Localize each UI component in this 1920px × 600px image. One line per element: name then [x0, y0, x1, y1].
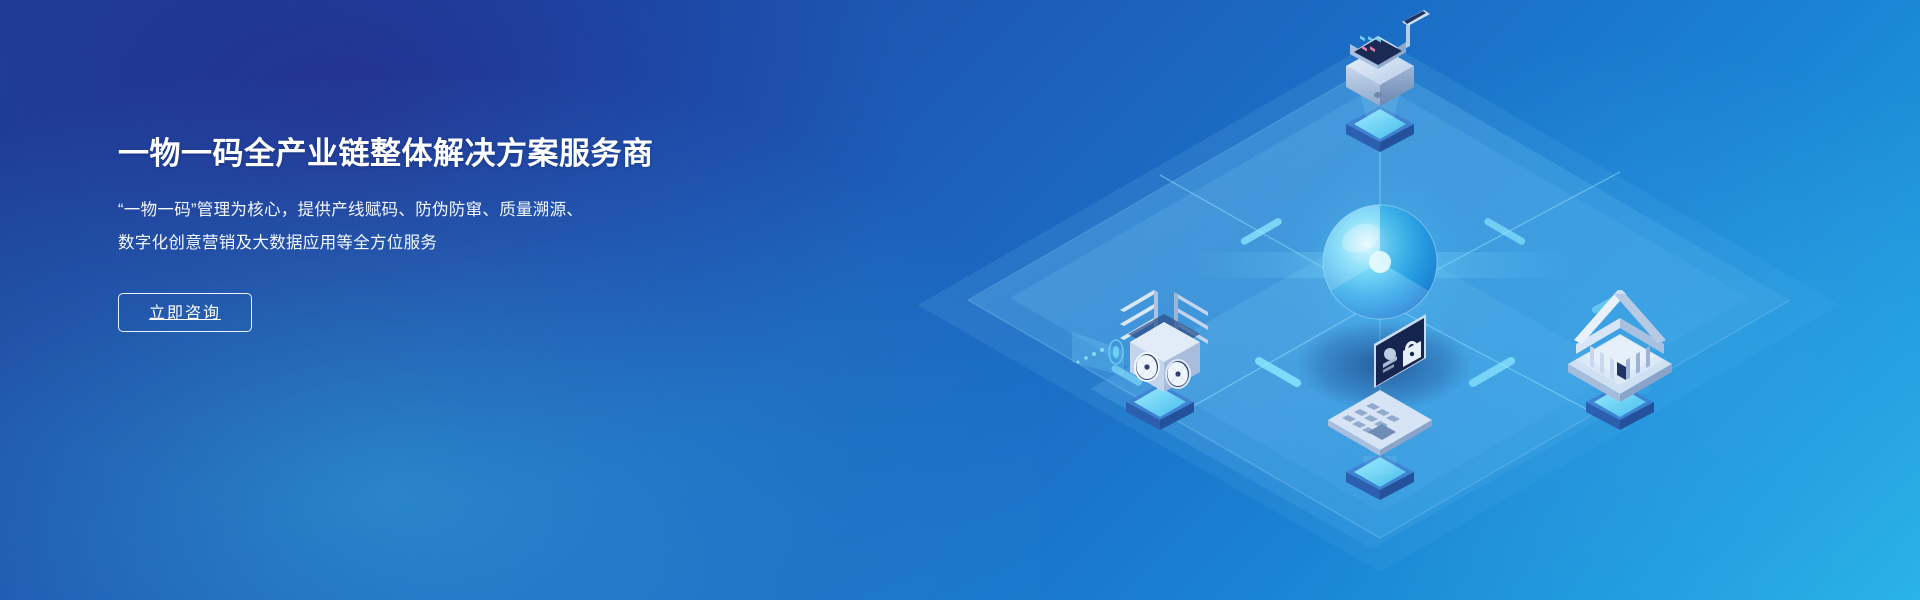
- consult-now-button[interactable]: 立即咨询: [118, 293, 252, 332]
- isometric-network-illustration: [860, 0, 1920, 600]
- hero-copy: 一物一码全产业链整体解决方案服务商 “一物一码”管理为核心，提供产线赋码、防伪防…: [118, 132, 758, 332]
- hero-banner: 一物一码全产业链整体解决方案服务商 “一物一码”管理为核心，提供产线赋码、防伪防…: [0, 0, 1920, 600]
- page-title: 一物一码全产业链整体解决方案服务商: [118, 132, 758, 176]
- hero-subtitle-line-2: 数字化创意营销及大数据应用等全方位服务: [118, 227, 758, 260]
- hero-subtitle: “一物一码”管理为核心，提供产线赋码、防伪防窜、质量溯源、 数字化创意营销及大数…: [118, 194, 758, 260]
- hero-subtitle-line-1: “一物一码”管理为核心，提供产线赋码、防伪防窜、质量溯源、: [118, 194, 758, 227]
